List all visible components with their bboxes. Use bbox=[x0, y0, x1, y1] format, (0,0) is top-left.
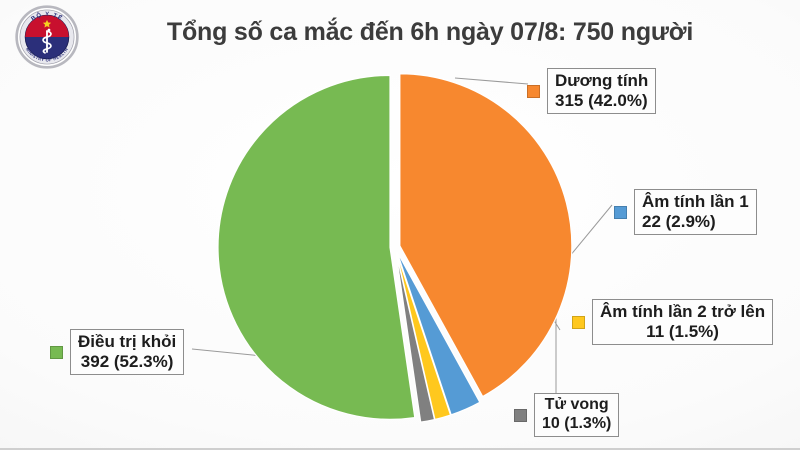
legend-tu-vong[interactable]: Tử vong 10 (1.3%) bbox=[514, 393, 619, 437]
legend-label-dieu-tri-khoi: Điều trị khỏi bbox=[78, 332, 176, 352]
legend-duong-tinh[interactable]: Dương tính 315 (42.0%) bbox=[527, 68, 656, 114]
legend-box-duong-tinh: Dương tính 315 (42.0%) bbox=[547, 68, 656, 114]
legend-box-dieu-tri-khoi: Điều trị khỏi 392 (52.3%) bbox=[70, 329, 184, 375]
legend-swatch-am-tinh-lan-2-tro-len bbox=[572, 316, 585, 329]
legend-value-dieu-tri-khoi: 392 (52.3%) bbox=[78, 352, 176, 372]
slide-canvas: BỘ Y TẾ MINISTRY OF HEALTH Tổng số ca mắ… bbox=[0, 0, 800, 450]
pie-slice[interactable] bbox=[396, 252, 435, 422]
pie-slice[interactable] bbox=[397, 252, 480, 415]
legend-label-am-tinh-lan-2-tro-len: Âm tính lần 2 trở lên bbox=[600, 302, 765, 322]
legend-box-am-tinh-lan-1: Âm tính lần 1 22 (2.9%) bbox=[634, 189, 757, 235]
page-title: Tổng số ca mắc đến 6h ngày 07/8: 750 ngư… bbox=[100, 18, 760, 47]
legend-dieu-tri-khoi[interactable]: Điều trị khỏi 392 (52.3%) bbox=[50, 329, 184, 375]
pie-slice[interactable] bbox=[396, 252, 450, 420]
ministry-of-health-logo: BỘ Y TẾ MINISTRY OF HEALTH bbox=[14, 4, 80, 70]
legend-label-tu-vong: Tử vong bbox=[542, 396, 611, 415]
legend-am-tinh-lan-2-tro-len[interactable]: Âm tính lần 2 trở lên 11 (1.5%) bbox=[572, 299, 773, 345]
legend-value-am-tinh-lan-2-tro-len: 11 (1.5%) bbox=[600, 322, 765, 342]
legend-label-am-tinh-lan-1: Âm tính lần 1 bbox=[642, 192, 749, 212]
legend-swatch-tu-vong bbox=[514, 409, 527, 422]
pie-slice[interactable] bbox=[400, 74, 572, 397]
legend-box-am-tinh-lan-2-tro-len: Âm tính lần 2 trở lên 11 (1.5%) bbox=[592, 299, 773, 345]
leader-lines bbox=[192, 78, 612, 396]
legend-value-duong-tinh: 315 (42.0%) bbox=[555, 91, 648, 111]
legend-value-tu-vong: 10 (1.3%) bbox=[542, 415, 611, 434]
legend-value-am-tinh-lan-1: 22 (2.9%) bbox=[642, 212, 749, 232]
pie-slice[interactable] bbox=[218, 75, 415, 419]
legend-box-tu-vong: Tử vong 10 (1.3%) bbox=[534, 393, 619, 437]
legend-am-tinh-lan-1[interactable]: Âm tính lần 1 22 (2.9%) bbox=[614, 189, 757, 235]
legend-swatch-duong-tinh bbox=[527, 85, 540, 98]
legend-swatch-dieu-tri-khoi bbox=[50, 346, 63, 359]
pie-slices bbox=[218, 74, 572, 422]
legend-label-duong-tinh: Dương tính bbox=[555, 71, 648, 91]
legend-swatch-am-tinh-lan-1 bbox=[614, 206, 627, 219]
